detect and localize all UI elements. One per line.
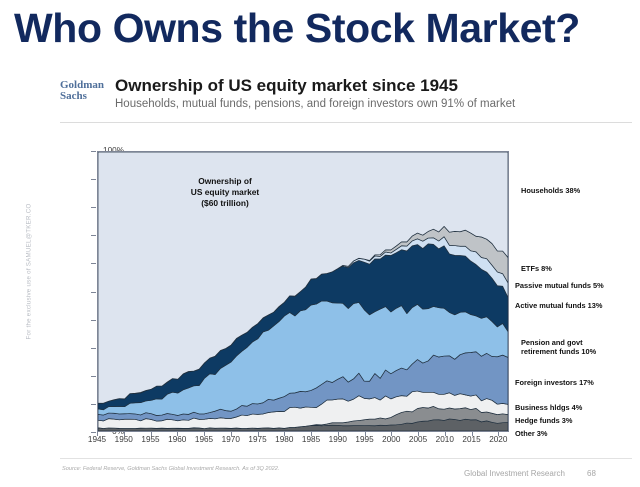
annotation-active-mutual-funds: Active mutual funds 13% [515, 301, 602, 310]
chart-subtitle: Households, mutual funds, pensions, and … [115, 98, 515, 110]
x-tick-mark [97, 432, 98, 436]
x-tick-mark [284, 432, 285, 436]
annotation-hedge-funds: Hedge funds 3% [515, 416, 573, 425]
header-divider [60, 122, 632, 123]
source-note: Source: Federal Reserve, Goldman Sachs G… [62, 466, 279, 472]
annotation-households: Households 38% [521, 186, 580, 195]
annotation-passive-mutual-funds: Passive mutual funds 5% [515, 281, 604, 290]
plot-inner-label-line-3: ($60 trillion) [160, 198, 290, 209]
y-tick-mark [91, 320, 96, 321]
x-tick-mark [338, 432, 339, 436]
x-tick-mark [498, 432, 499, 436]
annotation-etfs: ETFs 8% [521, 264, 552, 273]
x-tick-mark [445, 432, 446, 436]
goldman-sachs-logo: Goldman Sachs [60, 80, 108, 101]
y-tick-mark [91, 348, 96, 349]
plot-inner-label-line-1: Ownership of [160, 176, 290, 187]
x-tick-mark [472, 432, 473, 436]
chart-title: Ownership of US equity market since 1945 [115, 76, 458, 96]
exclusive-use-watermark: For the exclusive use of SAMUEL@TKER.CO [26, 197, 33, 347]
x-tick-mark [124, 432, 125, 436]
annotation-pension-govt-line-1: Pension and govt [521, 338, 596, 347]
logo-line-2: Sachs [60, 91, 108, 102]
y-tick-mark [91, 263, 96, 264]
annotation-foreign-investors: Foreign investors 17% [515, 378, 594, 387]
plot-area [97, 151, 509, 432]
footer-label: Global Investment Research [464, 469, 565, 478]
x-tick-mark [365, 432, 366, 436]
page-number: 68 [587, 469, 596, 478]
annotation-pension-govt-line-2: retirement funds 10% [521, 347, 596, 356]
y-tick-mark [91, 179, 96, 180]
y-tick-mark [91, 432, 96, 433]
y-tick-mark [91, 292, 96, 293]
page-title: Who Owns the Stock Market? [14, 4, 634, 53]
slide-canvas: Who Owns the Stock Market? Goldman Sachs… [0, 0, 640, 487]
x-tick-mark [258, 432, 259, 436]
plot-inner-label-line-2: US equity market [160, 187, 290, 198]
annotation-other: Other 3% [515, 429, 547, 438]
x-tick-mark [391, 432, 392, 436]
x-tick-label: 2020 [478, 435, 518, 444]
plot-inner-label: Ownership of US equity market ($60 trill… [160, 176, 290, 209]
x-tick-mark [311, 432, 312, 436]
y-tick-mark [91, 376, 96, 377]
annotation-pension-govt: Pension and govt retirement funds 10% [521, 338, 596, 356]
y-tick-mark [91, 207, 96, 208]
y-tick-mark [91, 235, 96, 236]
stacked-area-chart [97, 151, 509, 432]
x-tick-mark [151, 432, 152, 436]
x-tick-mark [418, 432, 419, 436]
footer-divider [60, 458, 632, 459]
x-tick-mark [204, 432, 205, 436]
x-tick-mark [231, 432, 232, 436]
x-tick-mark [177, 432, 178, 436]
annotation-business-hldgs: Business hldgs 4% [515, 403, 582, 412]
logo-line-1: Goldman [60, 80, 108, 91]
y-tick-mark [91, 404, 96, 405]
y-tick-mark [91, 151, 96, 152]
